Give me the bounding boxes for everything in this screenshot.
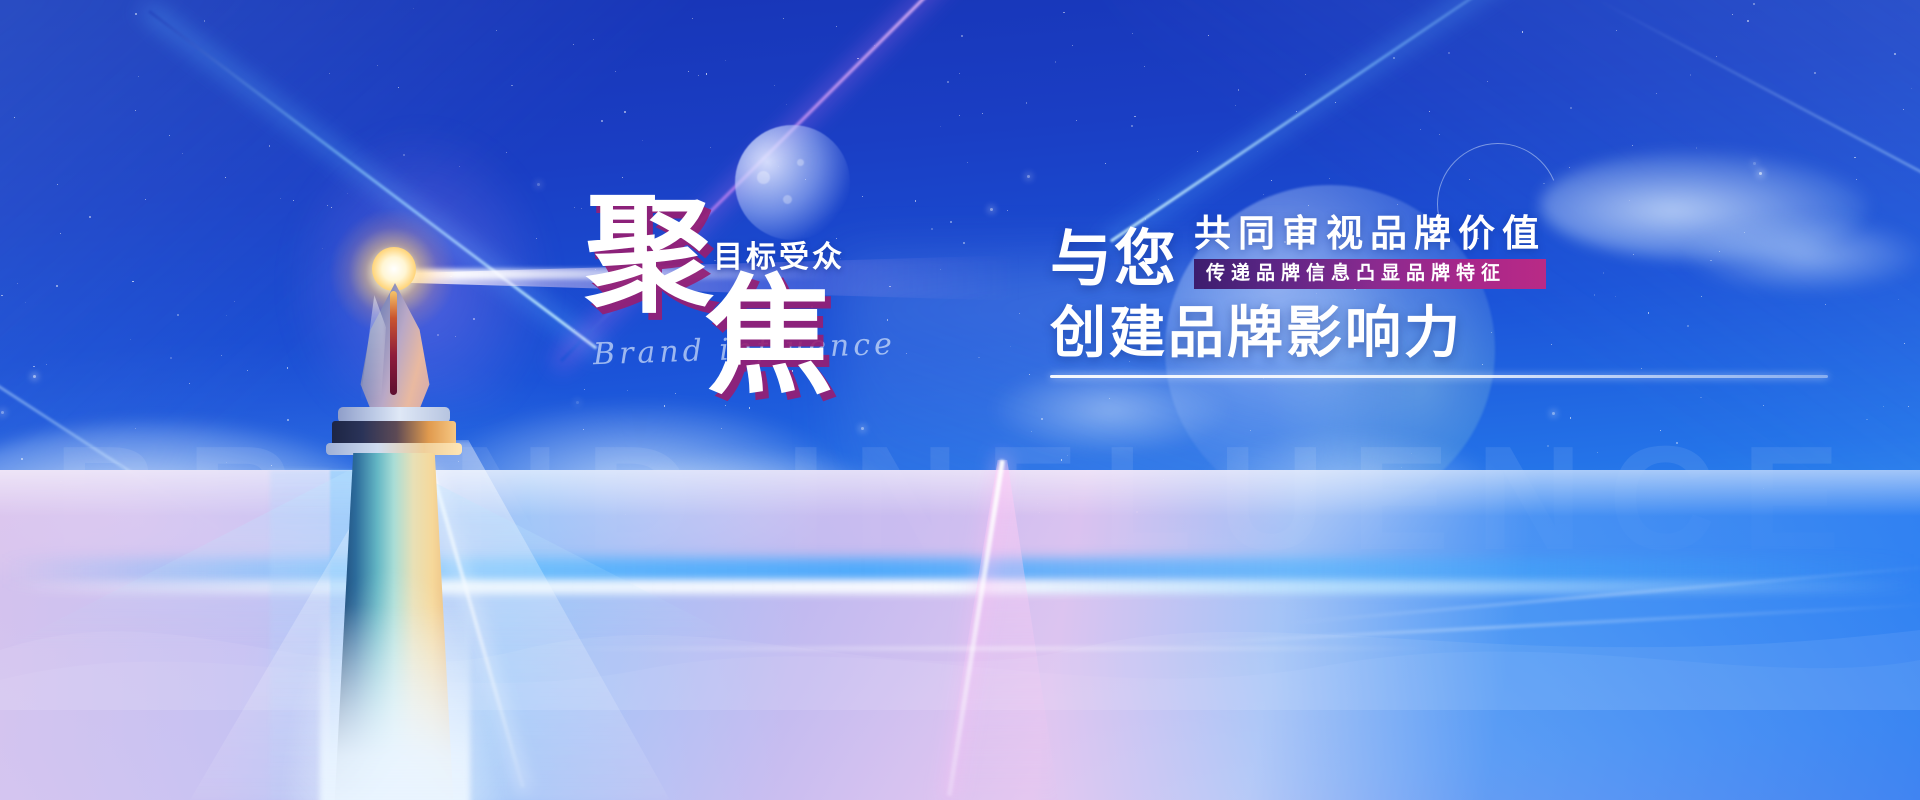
star xyxy=(1061,459,1062,460)
star xyxy=(1632,145,1633,146)
star xyxy=(581,208,582,209)
star xyxy=(204,20,205,21)
star xyxy=(1763,405,1764,406)
star xyxy=(574,207,575,208)
star xyxy=(1904,343,1905,344)
headline-underline-rule xyxy=(1050,375,1828,378)
star xyxy=(1197,151,1198,152)
star xyxy=(624,111,626,113)
star xyxy=(573,44,574,45)
star xyxy=(710,147,711,148)
headline-lead: 与您 xyxy=(1050,229,1178,291)
star xyxy=(940,126,941,127)
star xyxy=(1676,442,1678,444)
star xyxy=(721,428,722,429)
star xyxy=(1027,175,1030,178)
star xyxy=(496,30,497,31)
star xyxy=(692,18,693,19)
star xyxy=(1522,31,1523,32)
star xyxy=(1894,53,1896,55)
star xyxy=(145,199,146,200)
star xyxy=(1547,445,1549,447)
star xyxy=(33,366,34,367)
star xyxy=(1,295,2,296)
star xyxy=(1732,14,1733,15)
star xyxy=(413,8,414,9)
star xyxy=(774,85,775,86)
tagline-badge: 传递品牌信息凸显品牌特征 xyxy=(1194,259,1546,289)
star xyxy=(1629,200,1630,201)
star xyxy=(57,184,58,185)
star xyxy=(967,162,968,163)
star xyxy=(1076,120,1077,121)
star xyxy=(182,153,183,154)
star xyxy=(1759,172,1762,175)
star xyxy=(961,35,963,37)
headline-line-2: 创建品牌影响力 xyxy=(1050,305,1850,361)
star xyxy=(60,233,61,234)
star xyxy=(1031,431,1032,432)
star xyxy=(1429,111,1430,112)
headline-right-group: 与您 共同审视品牌价值 传递品牌信息凸显品牌特征 创建品牌影响力 xyxy=(1050,215,1850,378)
star xyxy=(1747,20,1749,22)
star xyxy=(1,411,4,414)
star xyxy=(138,76,139,77)
star xyxy=(1235,105,1236,106)
headline-left-group: 聚 目标受众 Brand influence 焦 xyxy=(585,192,945,422)
star xyxy=(1883,406,1884,407)
star xyxy=(1238,89,1239,90)
star xyxy=(271,465,272,466)
star xyxy=(1898,299,1899,300)
star xyxy=(1067,455,1068,456)
star xyxy=(1569,167,1570,168)
star xyxy=(1010,346,1011,347)
star xyxy=(1866,419,1867,420)
star xyxy=(170,357,171,358)
light-ray-top-right xyxy=(1599,0,1920,199)
star xyxy=(377,65,378,66)
star xyxy=(1439,134,1440,135)
star xyxy=(706,73,707,74)
star xyxy=(46,364,47,365)
star xyxy=(1597,452,1598,453)
headline-sub-group: 共同审视品牌价值 传递品牌信息凸显品牌特征 xyxy=(1194,215,1546,291)
star xyxy=(1908,406,1909,407)
star xyxy=(583,429,584,430)
star xyxy=(959,115,960,116)
star xyxy=(1335,102,1336,103)
star xyxy=(1026,102,1027,103)
star xyxy=(1716,56,1717,57)
star xyxy=(593,39,594,40)
star xyxy=(1132,33,1133,34)
star xyxy=(874,45,875,46)
star xyxy=(135,428,136,429)
star xyxy=(1903,109,1904,110)
star xyxy=(990,208,993,211)
star xyxy=(1570,107,1572,109)
star xyxy=(398,87,399,88)
star xyxy=(135,13,137,15)
star xyxy=(234,301,235,302)
star xyxy=(1029,374,1030,375)
star xyxy=(56,285,58,287)
star xyxy=(17,283,18,284)
star xyxy=(1552,412,1555,415)
headline-line-1: 与您 共同审视品牌价值 传递品牌信息凸显品牌特征 xyxy=(1050,215,1850,291)
star xyxy=(1854,157,1855,158)
star xyxy=(1105,163,1106,164)
star xyxy=(950,221,952,223)
star xyxy=(1616,30,1617,31)
star xyxy=(221,355,222,356)
star xyxy=(1814,72,1816,74)
star xyxy=(1072,45,1073,46)
star xyxy=(225,177,226,178)
star xyxy=(1329,178,1330,179)
star xyxy=(1753,3,1755,5)
star xyxy=(574,329,575,330)
star xyxy=(1007,210,1008,211)
star xyxy=(14,117,15,118)
star xyxy=(836,26,837,27)
star xyxy=(1696,147,1697,148)
star xyxy=(786,104,787,105)
headline-char-ju: 聚 xyxy=(585,192,713,320)
star xyxy=(1271,180,1272,181)
star xyxy=(861,427,864,430)
star xyxy=(576,401,579,404)
star xyxy=(89,216,91,218)
moon-crater xyxy=(797,159,804,166)
tower-fade-overlay xyxy=(320,605,470,800)
pen-nib-lighthouse xyxy=(300,225,480,800)
headline-char-jiao: 焦 xyxy=(705,274,833,402)
star xyxy=(1055,61,1056,62)
ground-streak-2 xyxy=(1180,603,1920,645)
star xyxy=(1019,313,1020,314)
star xyxy=(287,419,289,421)
star xyxy=(959,73,960,74)
star xyxy=(963,242,965,244)
star xyxy=(1856,179,1857,180)
star xyxy=(1700,397,1701,398)
star xyxy=(688,71,689,72)
lighthouse-lamp xyxy=(372,247,416,291)
star xyxy=(1208,35,1209,36)
star xyxy=(642,140,643,141)
star xyxy=(25,302,26,303)
star xyxy=(1296,111,1297,112)
star xyxy=(226,315,227,316)
star xyxy=(1144,66,1145,67)
ground-streak-1 xyxy=(540,647,1440,650)
star xyxy=(1041,418,1043,420)
star xyxy=(33,375,36,378)
star xyxy=(329,73,330,74)
star xyxy=(1158,199,1159,200)
star xyxy=(1134,116,1135,117)
star xyxy=(1305,74,1306,75)
moon-crater xyxy=(757,171,770,184)
star xyxy=(169,135,170,136)
star xyxy=(132,281,133,282)
star xyxy=(857,58,858,59)
star xyxy=(1063,12,1064,13)
star xyxy=(1660,430,1661,431)
star xyxy=(1911,88,1912,89)
headline-subline: 共同审视品牌价值 xyxy=(1194,215,1546,252)
star xyxy=(189,383,190,384)
star xyxy=(947,81,949,83)
star xyxy=(177,314,179,316)
ground-beam-pink-cone xyxy=(940,460,1060,800)
star xyxy=(1393,57,1395,59)
star xyxy=(1656,93,1657,94)
pen-nib-slit xyxy=(390,291,397,395)
star xyxy=(601,120,603,122)
star xyxy=(1448,52,1450,54)
star xyxy=(135,110,136,111)
star xyxy=(698,75,699,76)
star xyxy=(1487,81,1488,82)
star xyxy=(247,370,248,371)
star xyxy=(982,113,983,114)
star xyxy=(1570,417,1571,418)
star xyxy=(1690,74,1691,75)
ground-beam-right xyxy=(947,460,1005,797)
star xyxy=(783,18,784,19)
star xyxy=(1753,162,1756,165)
star xyxy=(226,462,227,463)
brand-influence-banner: BRAND INFLUENCE xyxy=(0,0,1920,800)
star xyxy=(978,357,979,358)
star xyxy=(622,177,623,178)
star xyxy=(615,71,616,72)
star xyxy=(1420,129,1421,130)
star xyxy=(130,339,131,340)
star xyxy=(21,458,23,460)
star xyxy=(1109,398,1110,399)
star xyxy=(725,60,726,61)
star xyxy=(511,85,512,86)
star xyxy=(1131,125,1133,127)
star xyxy=(1263,194,1264,195)
